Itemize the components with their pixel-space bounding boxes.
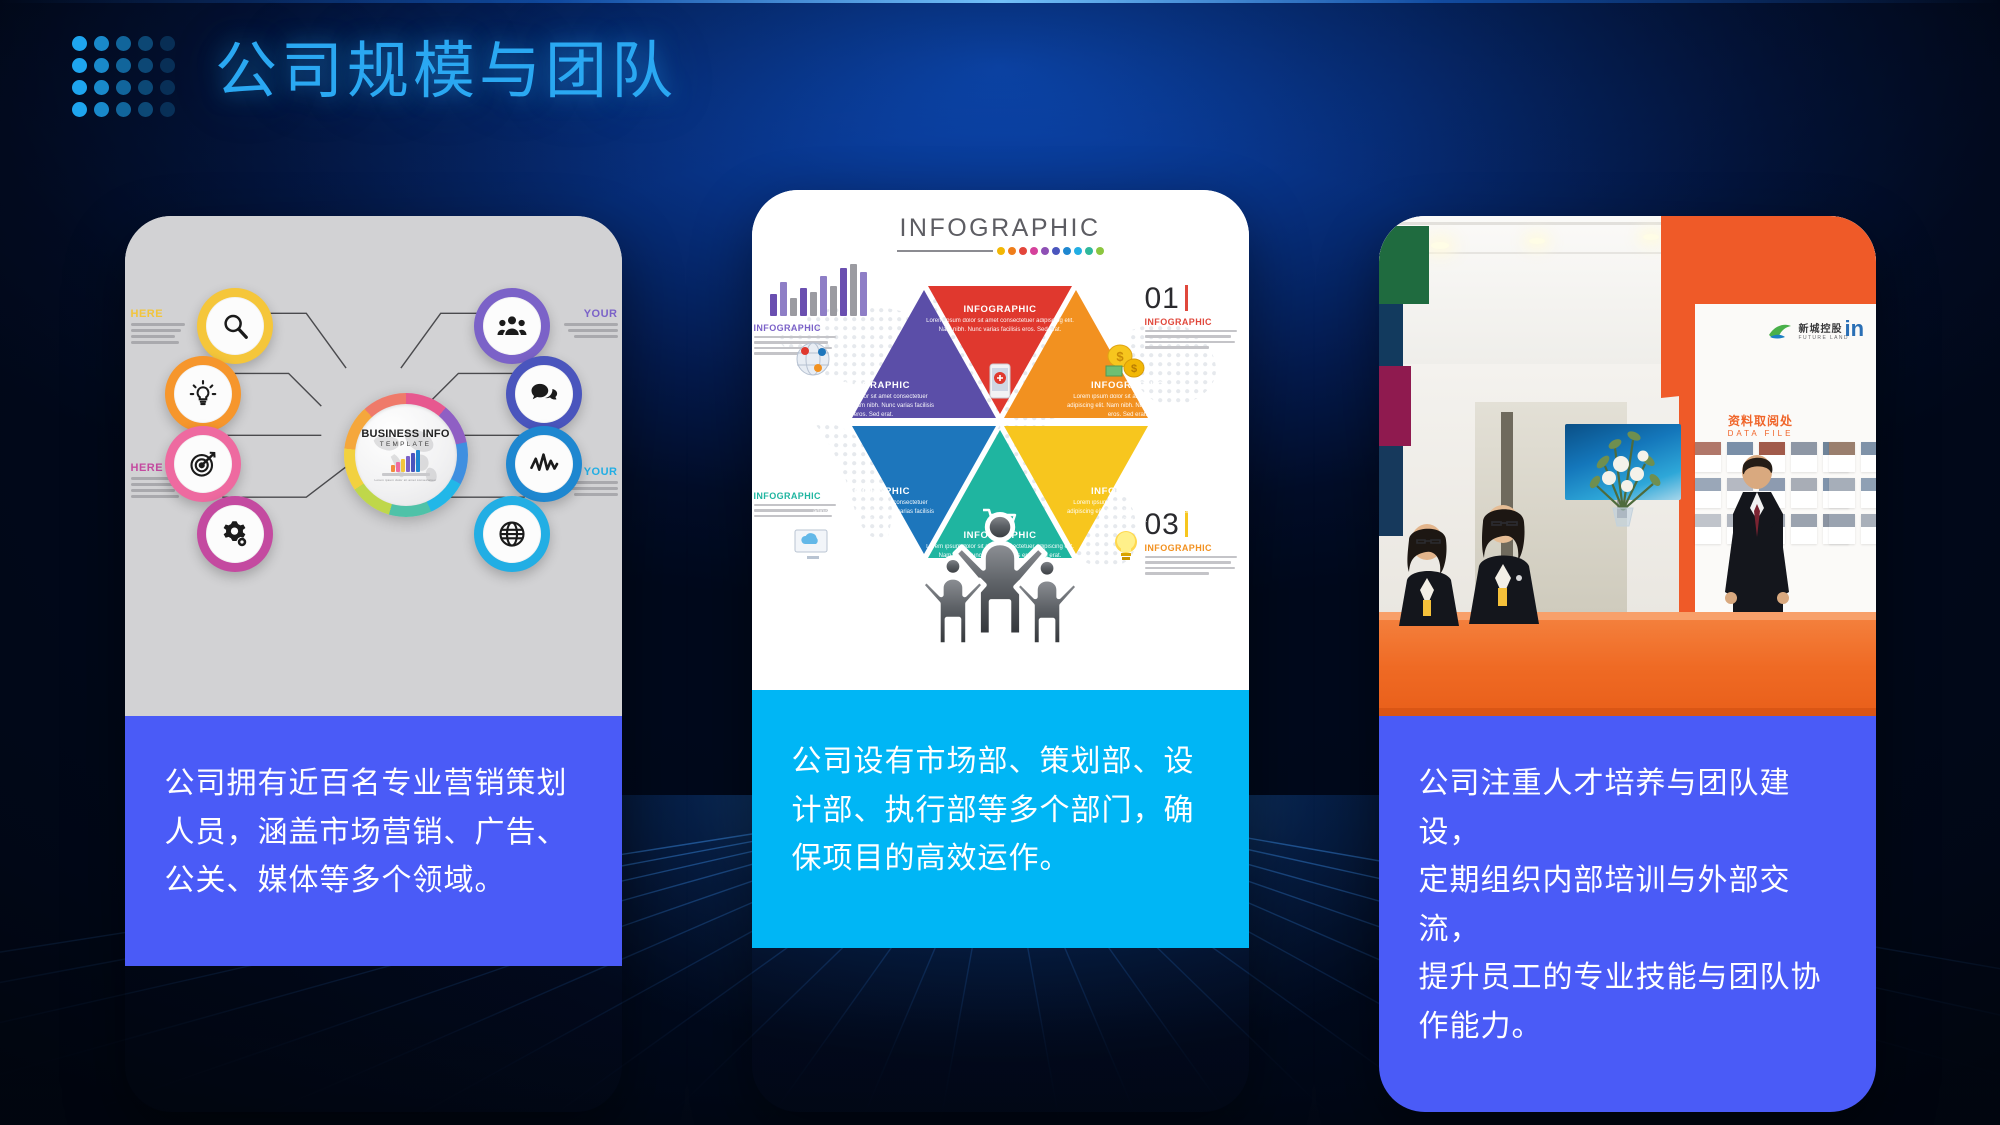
target-icon [188, 449, 218, 479]
chart-line-icon [529, 449, 559, 479]
brochure-rack-right [1829, 442, 1876, 544]
card-1-media: HERE HERE YOUR YOUR [125, 216, 622, 716]
office-reception-photo: 新城控股 FUTURE LAND in 资料取阅处 DATA FILE [1379, 216, 1876, 716]
magenta-panel [1379, 366, 1411, 446]
spotlight-3 [1643, 234, 1659, 240]
people-family-icon [902, 508, 1098, 658]
wall-brand-logo: 新城控股 FUTURE LAND [1767, 320, 1849, 341]
card-company-scale[interactable]: HERE HERE YOUR YOUR [125, 216, 622, 1112]
signage-cn: 资料取阅处 [1701, 412, 1821, 429]
flower-arrangement [1575, 378, 1671, 528]
wall-brand-secondary: in [1845, 316, 1865, 342]
counter-base-shadow [1379, 708, 1876, 716]
orange-pillar [1679, 216, 1695, 636]
rule-line [897, 250, 993, 252]
card-3-body: 公司注重人才培养与团队建设， 定期组织内部培训与外部交流， 提升员工的专业技能与… [1379, 716, 1876, 1112]
green-panel [1379, 226, 1429, 304]
data-file-signage: 资料取阅处 DATA FILE [1701, 412, 1821, 438]
page-title: 公司规模与团队 [215, 41, 677, 103]
top-edge-highlight [0, 0, 2000, 3]
heading-color-dots [997, 247, 1104, 255]
card-departments[interactable]: INFOGRAPHIC INF [752, 190, 1249, 1112]
hub-subtitle: TEMPLATE [380, 441, 431, 448]
coins-money-icon: $ $ [1104, 342, 1146, 380]
node-chat-disc [515, 365, 573, 423]
business-info-template-infographic: HERE HERE YOUR YOUR [125, 216, 622, 716]
signage-en: DATA FILE [1701, 429, 1821, 438]
lightbulb-icon [188, 379, 218, 409]
hub-title: BUSINESS INFO [361, 428, 449, 440]
node-search-disc [206, 297, 264, 355]
hexagon-triangles-infographic: INFOGRAPHIC INF [752, 190, 1249, 690]
node-chart-line-disc [515, 435, 573, 493]
node-target[interactable] [165, 426, 241, 502]
svg-text:$: $ [1116, 349, 1124, 364]
svg-text:$: $ [1130, 363, 1136, 375]
card-2-media: INFOGRAPHIC INF [752, 190, 1249, 690]
search-icon [220, 311, 250, 341]
wall-brand-cn: 新城控股 [1799, 320, 1849, 335]
card-talent-development[interactable]: 新城控股 FUTURE LAND in 资料取阅处 DATA FILE [1379, 216, 1876, 1112]
node-users-group-disc [483, 297, 541, 355]
users-group-icon [497, 311, 527, 341]
node-chart-line[interactable] [506, 426, 582, 502]
dot-matrix-icon [72, 36, 175, 117]
node-target-disc [174, 435, 232, 493]
dark-blue-panel [1379, 304, 1403, 374]
node-lightbulb-disc [174, 365, 232, 423]
slide-header: 公司规模与团队 [72, 26, 677, 117]
hub-ring: BUSINESS INFO TEMPLATE Lo [344, 393, 468, 517]
node-users-group[interactable] [474, 288, 550, 364]
card-1-body: 公司拥有近百名专业营销策划 人员，涵盖市场营销、广告、 公关、媒体等多个领域。 [125, 716, 622, 966]
infographic-heading: INFOGRAPHIC [752, 214, 1249, 255]
node-chat[interactable] [506, 356, 582, 432]
chat-bubbles-icon [529, 379, 559, 409]
node-lightbulb[interactable] [165, 356, 241, 432]
mobile-phone-icon [985, 362, 1015, 402]
lightbulb-icon-tri [1108, 526, 1144, 566]
spotlight-1 [1431, 242, 1449, 249]
hub-caption: Lorem ipsum dolor sit amet consectetuer [375, 478, 437, 482]
infographic-heading-text: INFOGRAPHIC [899, 214, 1100, 243]
future-land-logo-icon [1767, 321, 1793, 341]
gear-icon [220, 519, 250, 549]
node-gear-disc [206, 505, 264, 563]
node-search[interactable] [197, 288, 273, 364]
receptionist-2 [1451, 494, 1569, 624]
slide-root: 公司规模与团队 HERE HERE YOUR [0, 0, 2000, 1125]
hub-chart-base [382, 473, 430, 476]
infographic-heading-rule [752, 247, 1249, 255]
hub-bar-chart [391, 452, 419, 472]
cards-row: HERE HERE YOUR YOUR [0, 216, 2000, 1112]
reception-counter[interactable] [1379, 616, 1876, 716]
wall-brand-en: FUTURE LAND [1799, 335, 1849, 341]
card-3-text: 公司注重人才培养与团队建设， 定期组织内部培训与外部交流， 提升员工的专业技能与… [1419, 760, 1836, 1052]
card-3-media: 新城控股 FUTURE LAND in 资料取阅处 DATA FILE [1379, 216, 1876, 716]
node-globe-disc [483, 505, 541, 563]
card-2-text: 公司设有市场部、策划部、设 计部、执行部等多个部门，确 保项目的高效运作。 [792, 738, 1209, 884]
spotlight-2 [1529, 238, 1545, 244]
monitor-cloud-icon [792, 526, 832, 562]
node-globe[interactable] [474, 496, 550, 572]
card-1-text: 公司拥有近百名专业营销策划 人员，涵盖市场营销、广告、 公关、媒体等多个领域。 [165, 760, 582, 906]
globe-icon [497, 519, 527, 549]
card-2-body: 公司设有市场部、策划部、设 计部、执行部等多个部门，确 保项目的高效运作。 [752, 690, 1249, 948]
node-gear[interactable] [197, 496, 273, 572]
hub-inner: BUSINESS INFO TEMPLATE Lo [355, 404, 457, 506]
globe-network-icon [792, 338, 834, 380]
